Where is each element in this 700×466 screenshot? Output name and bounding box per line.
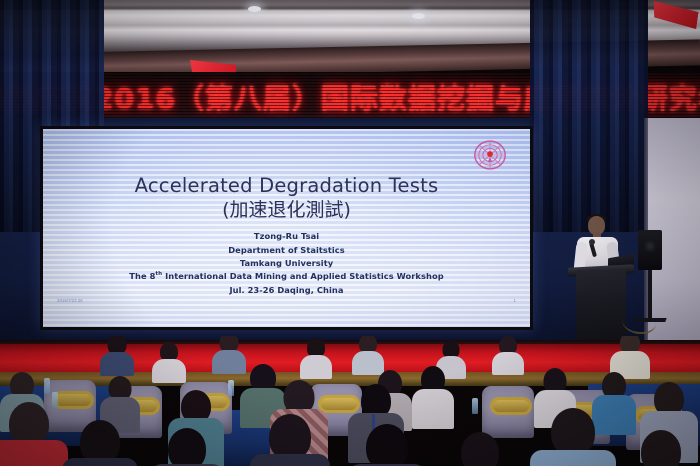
slide-department: Department of Staitstics [43, 244, 530, 257]
presentation-slide: Accelerated Degradation Tests (加速退化測試) T… [43, 129, 530, 327]
stage-curtain-right [530, 0, 648, 232]
slide-author: Tzong-Ru Tsai [43, 230, 530, 243]
banquet-chair [482, 386, 534, 438]
audience-person [530, 408, 616, 466]
person-body [100, 352, 134, 376]
power-cable [622, 308, 656, 334]
audience-person [152, 342, 186, 382]
audience-person [492, 336, 524, 374]
audience-area [0, 336, 700, 466]
slide-text-block: Accelerated Degradation Tests (加速退化測試) T… [43, 175, 530, 297]
person-head [641, 430, 681, 466]
audience-person [352, 336, 384, 374]
person-head [551, 408, 595, 456]
water-bottle [228, 380, 234, 396]
ceiling-downlight [412, 13, 425, 19]
slide-title-chinese: (加速退化測試) [43, 198, 530, 223]
person-body [152, 359, 186, 383]
ceiling-downlight [248, 6, 261, 12]
water-bottle [472, 398, 478, 414]
audience-person [100, 336, 134, 374]
audience-person [444, 432, 516, 466]
person-body [492, 352, 524, 375]
audience-person [250, 414, 330, 466]
person-body [250, 454, 330, 466]
slide-date-location: Jul. 23-26 Daqing, China [43, 284, 530, 297]
slide-university: Tamkang University [43, 257, 530, 270]
person-body [62, 458, 138, 466]
audience-person [622, 430, 700, 466]
person-body [412, 389, 454, 429]
slide-footer-page: 1 [514, 298, 516, 303]
person-head [461, 432, 499, 466]
person-body [530, 450, 616, 466]
audience-person [412, 366, 454, 426]
audience-person [150, 428, 224, 466]
audience-person [348, 424, 426, 466]
conference-hall-photo: 热烈庆祝2016（第八届）国际数据挖掘与应用统计研究年会胜利召开 Acceler… [0, 0, 700, 466]
slide-title-english: Accelerated Degradation Tests [43, 175, 530, 197]
audience-person [300, 338, 332, 378]
person-body [0, 440, 68, 466]
tamkang-university-emblem-icon [472, 138, 508, 172]
person-body [300, 355, 332, 379]
slide-footer-date: 2016/7/23 26 [57, 298, 83, 303]
water-bottle [44, 378, 50, 394]
audience-person [62, 420, 138, 466]
slide-workshop: The 8th International Data Mining and Ap… [43, 270, 530, 283]
workshop-suffix: International Data Mining and Applied St… [162, 271, 444, 281]
slide-subtitle-lines: Tzong-Ru Tsai Department of Staitstics T… [43, 230, 530, 297]
workshop-prefix: The 8 [129, 271, 155, 281]
person-head [168, 428, 206, 466]
microphone-head [589, 239, 595, 245]
person-head [366, 424, 408, 466]
projection-screen-frame: Accelerated Degradation Tests (加速退化測試) T… [40, 126, 533, 330]
loudspeaker [638, 230, 662, 270]
audience-person [0, 402, 68, 466]
speaker-at-podium [556, 212, 666, 350]
slide-footer: 2016/7/23 26 1 [43, 298, 530, 303]
